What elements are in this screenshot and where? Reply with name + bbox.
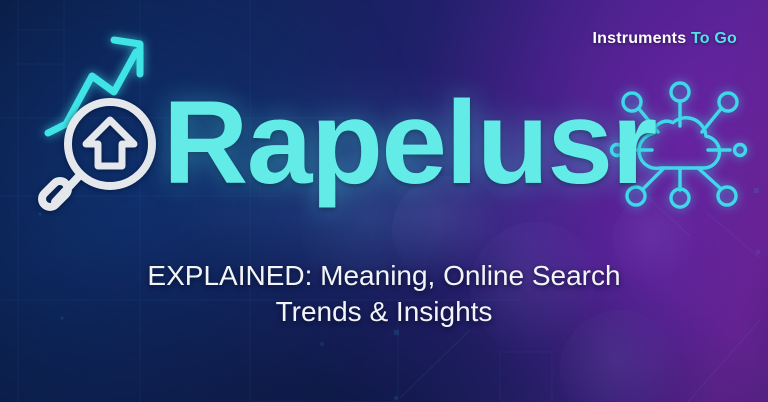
page-subtitle: EXPLAINED: Meaning, Online Search Trends… [0,258,768,330]
brand-accent-text: To Go [691,30,737,47]
subtitle-line-1: EXPLAINED: Meaning, Online Search [90,258,678,294]
growth-arrow-icon [48,40,140,133]
promo-banner: Instruments To Go Rapelusr EXPLAINED: Me… [0,0,768,402]
brand-tagline: Instruments To Go [593,30,737,48]
brand-primary-text: Instruments [593,30,687,47]
subtitle-line-2: Trends & Insights [90,294,678,330]
up-arrow-icon [86,120,134,166]
page-title: Rapelusr [163,84,656,202]
